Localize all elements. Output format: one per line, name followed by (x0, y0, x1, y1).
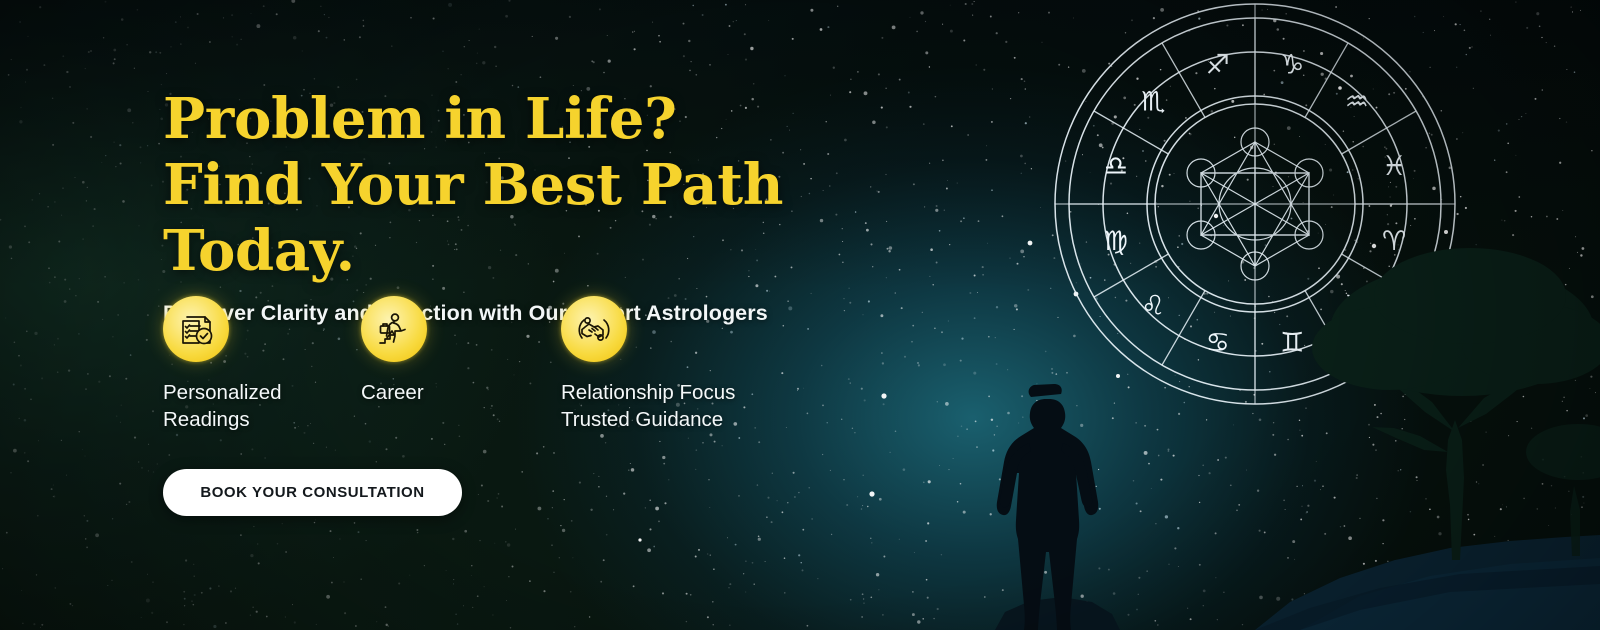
headline-line-2: Find Your Best Path Today. (163, 152, 983, 284)
book-consultation-button[interactable]: BOOK YOUR CONSULTATION (163, 469, 462, 516)
feature-label: Relationship Focus Trusted Guidance (561, 379, 791, 433)
astrology-hero-banner: ♑♒♓♈♉♊♋♌♍♎♏♐ (0, 0, 1600, 630)
hero-text-block: Problem in Life? Find Your Best Path Tod… (163, 86, 983, 326)
headline-line-1: Problem in Life? (163, 86, 677, 152)
checklist-document-icon (163, 296, 229, 362)
feature-item-relationship-focus: Relationship Focus Trusted Guidance (561, 296, 791, 433)
page-title: Problem in Life? Find Your Best Path Tod… (163, 86, 983, 284)
career-stairs-icon (361, 296, 427, 362)
feature-list: Personalized Readings Career (163, 296, 863, 436)
feature-label: Personalized Readings (163, 379, 313, 433)
feature-label: Career (361, 379, 511, 406)
feature-item-career: Career (361, 296, 511, 406)
feature-item-personalized-readings: Personalized Readings (163, 296, 313, 433)
handshake-icon (561, 296, 627, 362)
